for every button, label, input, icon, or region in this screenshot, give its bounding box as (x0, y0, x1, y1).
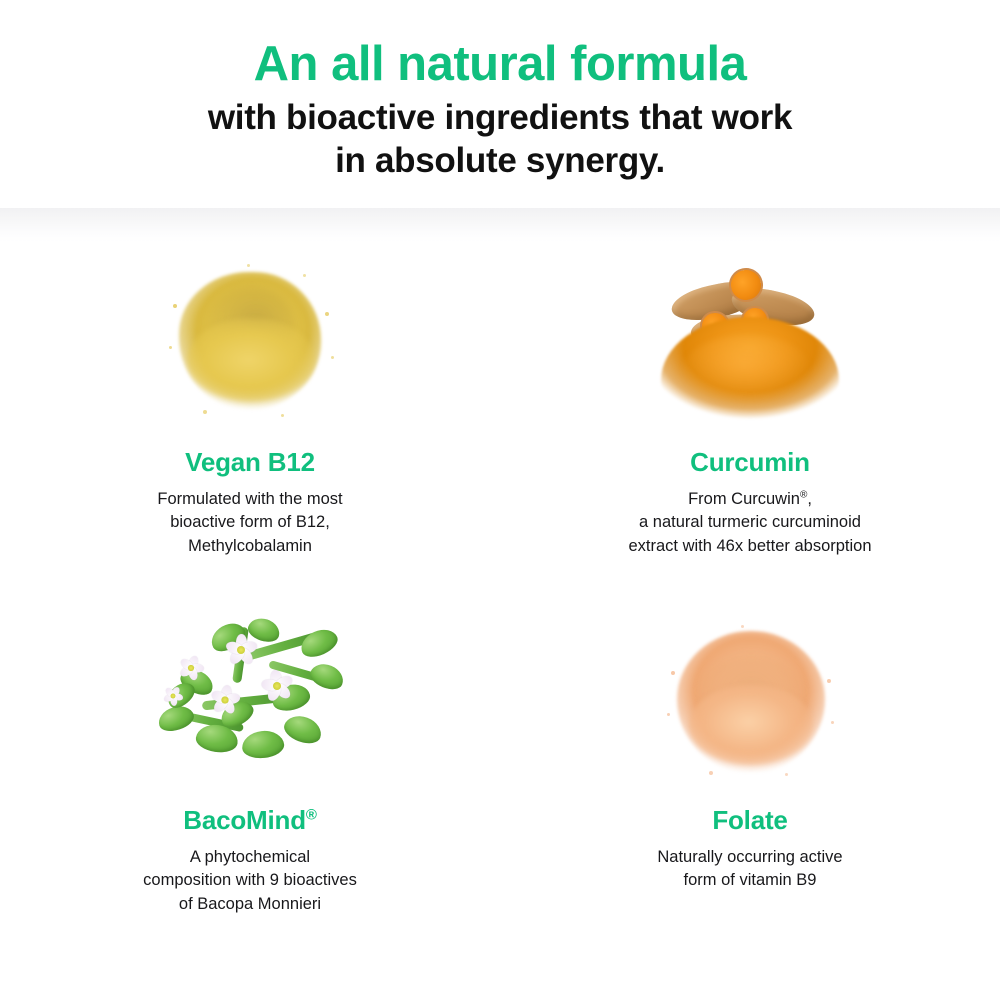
ingredient-title: Folate (712, 805, 787, 836)
description-line: Formulated with the most (157, 488, 342, 511)
ingredient-title-text: Folate (712, 805, 787, 835)
description-line: From Curcuwin®, (628, 488, 871, 511)
subheadline-line-2: in absolute synergy. (208, 140, 792, 183)
ingredient-infographic-page: An all natural formula with bioactive in… (0, 0, 1000, 1000)
description-line: extract with 46x better absorption (628, 535, 871, 558)
peach-folate-powder-image (630, 608, 870, 783)
registered-trademark-icon: ® (306, 806, 317, 823)
description-line: composition with 9 bioactives (143, 869, 357, 892)
ingredient-title: Curcumin (690, 447, 810, 478)
description-line: bioactive form of B12, (157, 511, 342, 534)
ingredient-card-curcumin: Curcumin From Curcuwin®, a natural turme… (500, 242, 1000, 600)
description-line: of Bacopa Monnieri (143, 893, 357, 916)
ingredient-card-vegan-b12: Vegan B12 Formulated with the most bioac… (0, 242, 500, 600)
flower-icon (162, 685, 183, 706)
ingredients-grid: Vegan B12 Formulated with the most bioac… (0, 242, 1000, 1000)
ingredient-title: BacoMind® (183, 805, 316, 836)
flower-icon (178, 655, 205, 682)
ingredient-title: Vegan B12 (185, 447, 315, 478)
page-headline: An all natural formula (254, 38, 747, 91)
yellow-b12-powder-image (130, 250, 370, 425)
ingredient-description: A phytochemical composition with 9 bioac… (143, 846, 357, 916)
header-divider (0, 208, 1000, 242)
ingredient-description: Formulated with the most bioactive form … (157, 488, 342, 558)
description-line-text: From Curcuwin (688, 490, 800, 508)
header-section: An all natural formula with bioactive in… (0, 0, 1000, 208)
flower-icon (224, 633, 258, 667)
flower-icon (209, 684, 240, 715)
ingredient-card-folate: Folate Naturally occurring active form o… (500, 600, 1000, 958)
description-line: A phytochemical (143, 846, 357, 869)
ingredient-title-text: Vegan B12 (185, 447, 315, 477)
page-subheadline: with bioactive ingredients that work in … (208, 97, 792, 182)
description-line: Naturally occurring active (657, 846, 842, 869)
description-line: Methylcobalamin (157, 535, 342, 558)
subheadline-line-1: with bioactive ingredients that work (208, 97, 792, 140)
flower-icon (260, 669, 294, 703)
description-line: a natural turmeric curcuminoid (628, 511, 871, 534)
turmeric-root-and-powder-image (630, 250, 870, 425)
ingredient-card-bacomind: BacoMind® A phytochemical composition wi… (0, 600, 500, 958)
ingredient-description: Naturally occurring active form of vitam… (657, 846, 842, 893)
description-line: form of vitamin B9 (657, 869, 842, 892)
ingredient-description: From Curcuwin®, a natural turmeric curcu… (628, 488, 871, 558)
description-line-tail: , (807, 490, 812, 508)
ingredient-title-text: Curcumin (690, 447, 810, 477)
ingredient-title-text: BacoMind (183, 805, 306, 835)
bacopa-monnieri-plant-image (130, 608, 370, 783)
